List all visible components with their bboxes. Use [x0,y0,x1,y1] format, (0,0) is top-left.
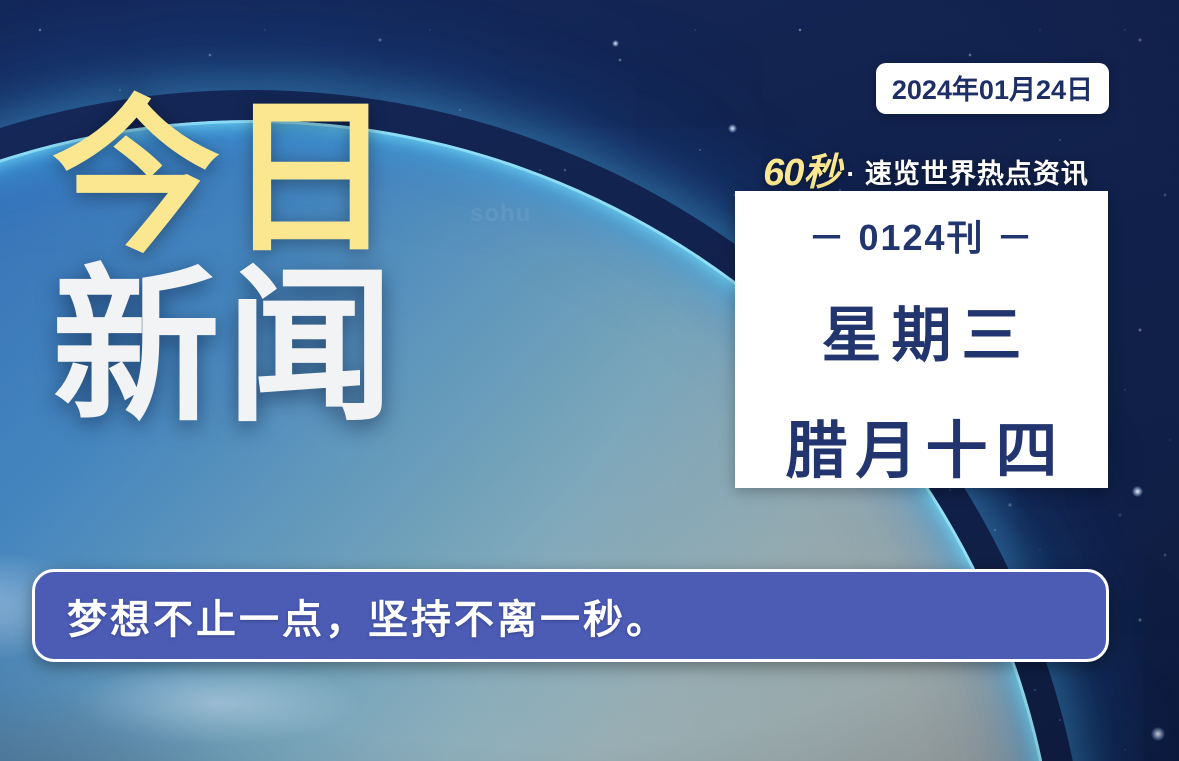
star-icon [1151,727,1165,741]
quote-text: 梦想不止一点，坚持不离一秒。 [67,587,669,645]
tagline-highlight: 60秒 [763,152,840,194]
tagline-rest: · 速览世界热点资讯 [846,159,1089,189]
issue-number: － 0124刊 － [808,209,1034,261]
date-badge: 2024年01月24日 [876,63,1109,114]
title-line-jinri: 今日 [52,96,472,261]
lunar-date-label: 腊月十四 [777,400,1065,490]
quote-banner: 梦想不止一点，坚持不离一秒。 [32,569,1109,662]
news-poster: sohu 今日 新闻 2024年01月24日 60秒· 速览世界热点资讯 － 0… [0,0,1179,761]
page-title: 今日 新闻 [52,96,472,429]
weekday-label: 星期三 [812,287,1032,374]
watermark: sohu [470,200,580,234]
star-icon [612,40,619,47]
issue-info-card: － 0124刊 － 星期三 腊月十四 [735,191,1108,488]
tagline: 60秒· 速览世界热点资讯 [742,141,1110,196]
star-icon [728,124,737,133]
title-line-xinwen: 新闻 [52,265,472,430]
star-icon [1132,486,1143,497]
